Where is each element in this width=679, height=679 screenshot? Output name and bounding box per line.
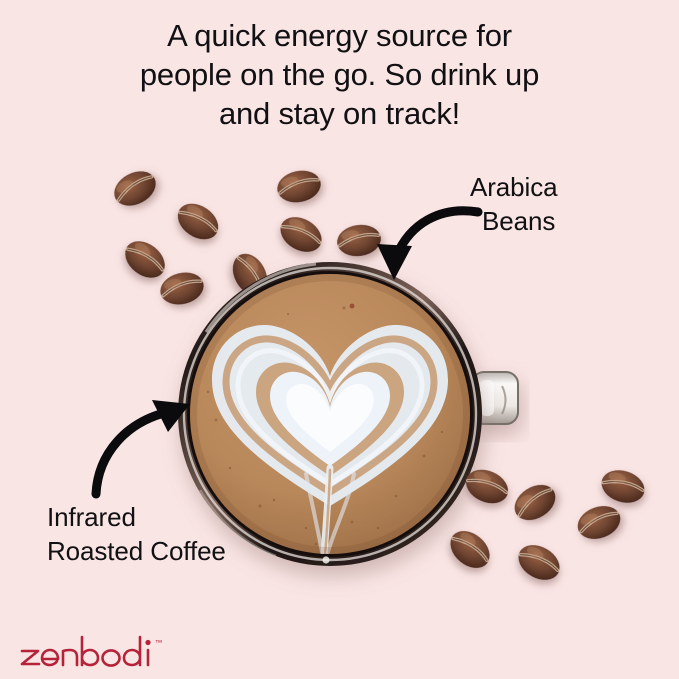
coffee-bean	[273, 166, 325, 208]
callout-arabica-beans: Arabica Beans	[470, 170, 557, 238]
headline-line-1: A quick energy source for	[0, 16, 679, 55]
coffee-bean	[107, 163, 163, 214]
coffee-bean	[334, 221, 384, 260]
coffee-bean	[170, 195, 227, 248]
coffee-bean	[507, 476, 563, 528]
callout-infrared-line-1: Infrared	[47, 500, 226, 534]
callout-arabica-line-2: Beans	[470, 204, 557, 238]
callout-infrared-roasted-coffee: Infrared Roasted Coffee	[47, 500, 226, 568]
coffee-bean	[511, 537, 567, 589]
callout-arabica-line-1: Arabica	[470, 170, 557, 204]
coffee-bean	[572, 499, 627, 546]
logo-i-dot	[145, 640, 150, 645]
headline-line-3: and stay on track!	[0, 94, 679, 133]
callout-infrared-line-2: Roasted Coffee	[47, 534, 226, 568]
logo-trademark: ™	[155, 638, 163, 647]
brand-logo: ™	[18, 633, 198, 671]
page-title: A quick energy source for people on the …	[0, 16, 679, 133]
product-graphic-canvas: A quick energy source for people on the …	[0, 0, 679, 679]
headline-line-2: people on the go. So drink up	[0, 55, 679, 94]
coffee-bean	[273, 209, 329, 261]
